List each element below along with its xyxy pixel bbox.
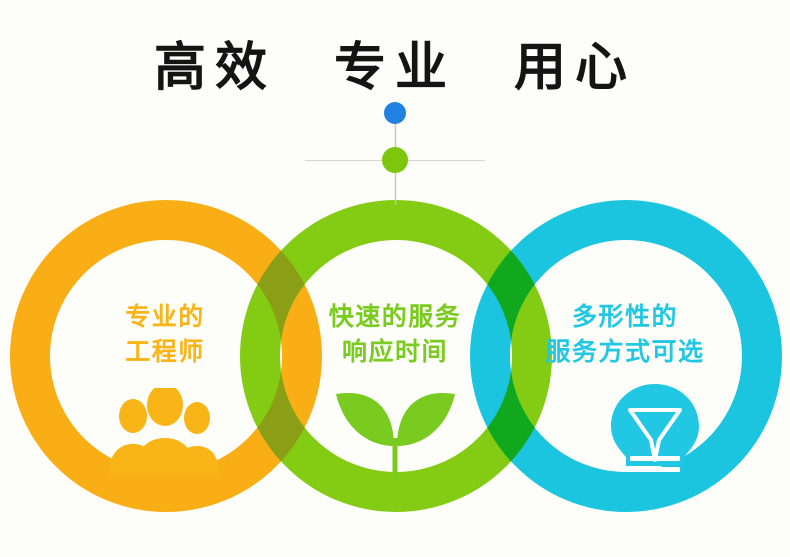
lobe-response-line-2: 响应时间 <box>270 335 520 370</box>
sprout-icon <box>328 382 463 478</box>
lobe-flexible-line-1: 多形性的 <box>500 300 750 335</box>
headline-word-1: 高效 <box>154 42 276 94</box>
headline-word-3: 用心 <box>514 42 636 94</box>
people-group-icon <box>95 388 235 474</box>
page-title: 高效 专业 用心 <box>0 26 790 110</box>
lobe-engineer[interactable]: 专业的 工程师 <box>40 300 290 369</box>
lobe-response[interactable]: 快速的服务 响应时间 <box>270 300 520 369</box>
lobe-flexible[interactable]: 多形性的 服务方式可选 <box>500 300 750 369</box>
headline-word-2: 专业 <box>334 42 456 94</box>
lobe-flexible-line-2: 服务方式可选 <box>500 335 750 370</box>
lobe-engineer-line-2: 工程师 <box>40 335 290 370</box>
infographic-canvas: 高效 专业 用心 <box>0 0 790 557</box>
lobe-response-line-1: 快速的服务 <box>270 300 520 335</box>
lightbulb-icon <box>597 382 713 480</box>
lobe-engineer-line-1: 专业的 <box>40 300 290 335</box>
